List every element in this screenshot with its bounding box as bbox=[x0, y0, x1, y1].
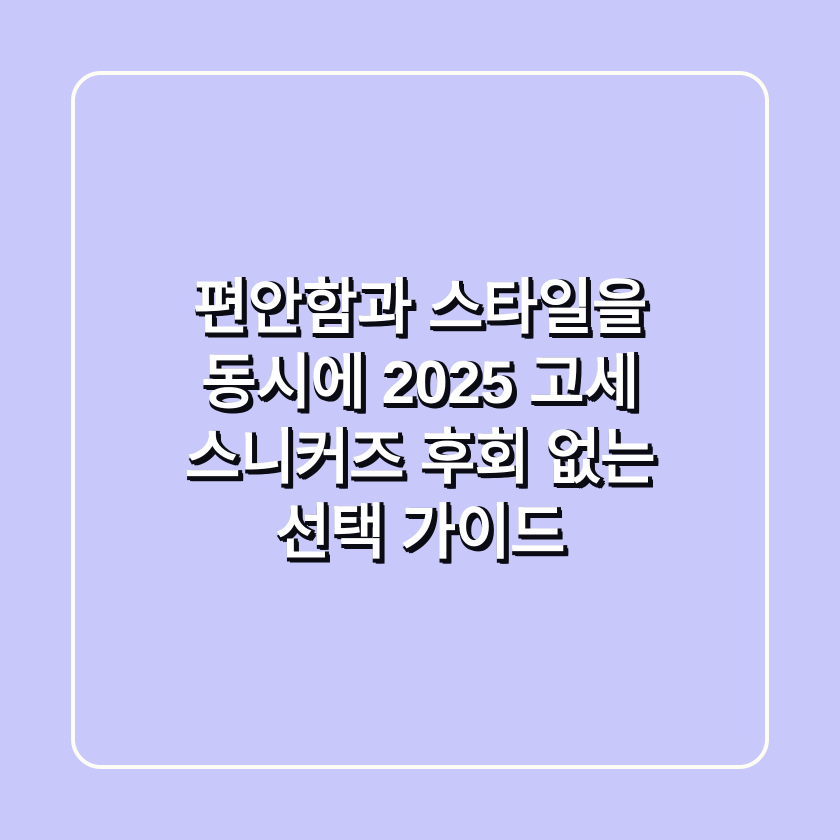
headline-line-4: 선택 가이드 bbox=[60, 495, 780, 570]
headline-line-3: 스니커즈 후회 없는 bbox=[60, 420, 780, 495]
headline-text-block: 편안함과 스타일을 동시에 2025 고세 스니커즈 후회 없는 선택 가이드 bbox=[0, 0, 840, 840]
poster-canvas: 편안함과 스타일을 동시에 2025 고세 스니커즈 후회 없는 선택 가이드 bbox=[0, 0, 840, 840]
headline-line-2: 동시에 2025 고세 bbox=[60, 345, 780, 420]
headline-line-1: 편안함과 스타일을 bbox=[60, 270, 780, 345]
